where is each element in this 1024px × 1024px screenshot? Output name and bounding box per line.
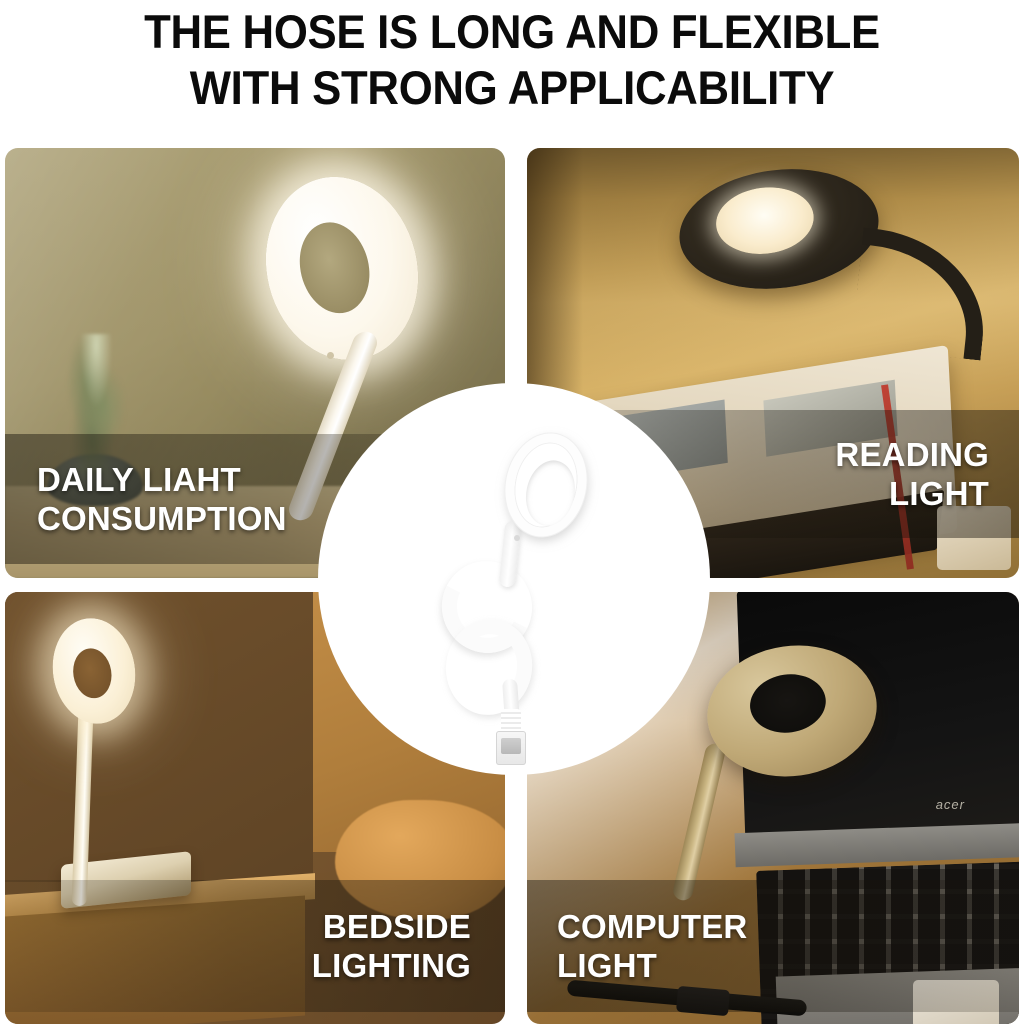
caption-computer-light: COMPUTER LIGHT xyxy=(527,907,1019,985)
caption-bedside-lighting: BEDSIDE LIGHTING xyxy=(5,907,505,985)
bedroom-wall xyxy=(5,592,313,882)
caption-line-2: LIGHT xyxy=(557,946,1011,985)
lamp-touch-button xyxy=(327,352,334,359)
caption-band-bedside-lighting: BEDSIDE LIGHTING xyxy=(5,880,505,1012)
caption-band-computer-light: COMPUTER LIGHT xyxy=(527,880,1019,1012)
lamp-gooseneck xyxy=(851,228,993,361)
lamp-ring-head-icon xyxy=(247,161,437,377)
lamp-ring-head-icon xyxy=(673,158,886,299)
caption-line-2: LIGHTING xyxy=(13,946,471,985)
hero-usb-ring-lamp xyxy=(318,383,710,775)
touch-button-icon xyxy=(514,535,520,541)
product-infographic: THE HOSE IS LONG AND FLEXIBLE WITH STRON… xyxy=(0,0,1024,1024)
caption-line-1: COMPUTER xyxy=(557,907,1011,946)
caption-line-1: BEDSIDE xyxy=(13,907,471,946)
hero-product-circle xyxy=(318,383,710,775)
usb-a-connector-icon xyxy=(496,731,526,765)
laptop-brand-logo: acer xyxy=(936,797,965,812)
